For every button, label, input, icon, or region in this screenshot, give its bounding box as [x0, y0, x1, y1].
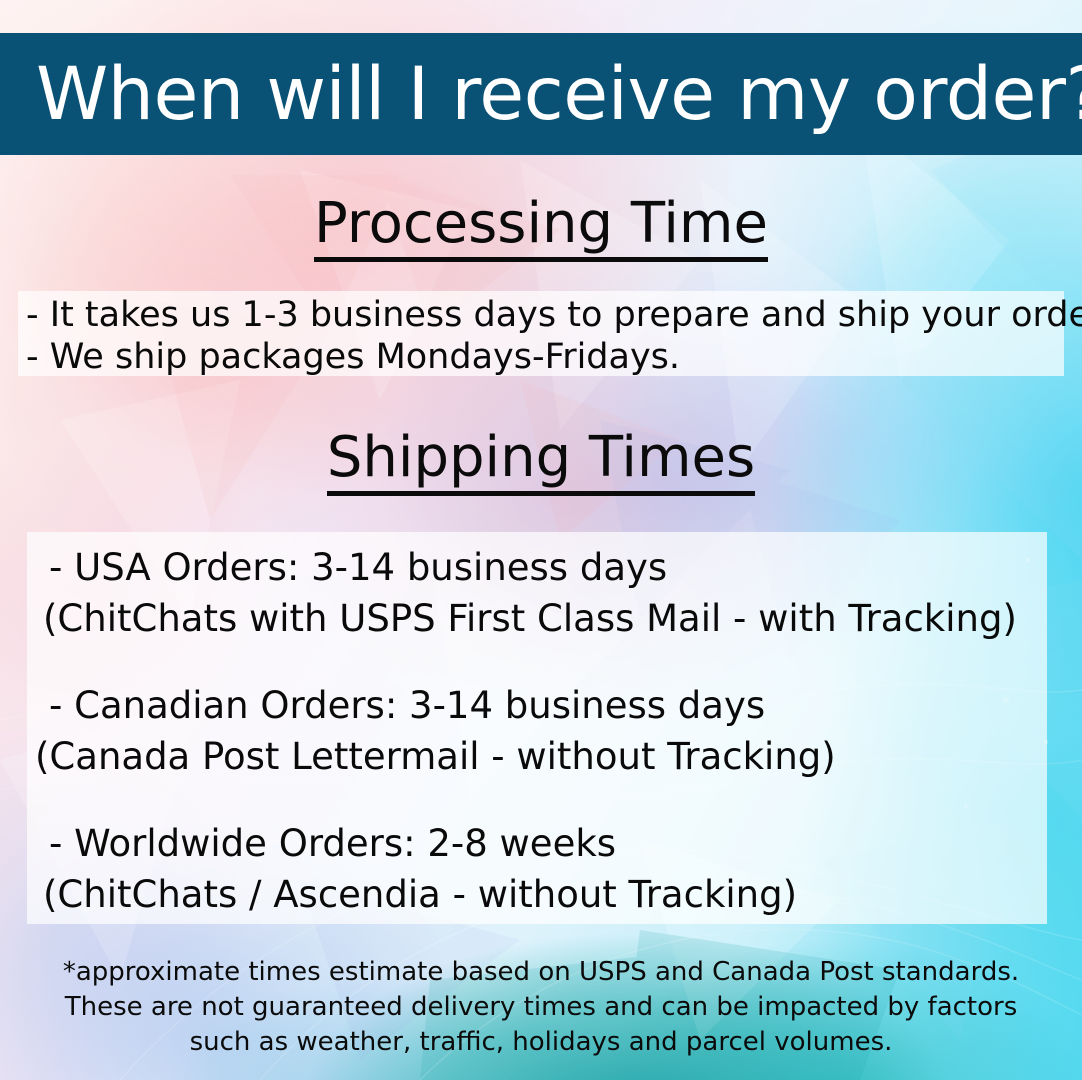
- disclaimer-line-2: These are not guaranteed delivery times …: [0, 990, 1082, 1025]
- page-title: When will I receive my order?: [36, 58, 1082, 131]
- disclaimer-note: *approximate times estimate based on USP…: [0, 955, 1082, 1060]
- section-heading-processing-time-text: Processing Time: [314, 196, 768, 262]
- shipping-times-text-band: - USA Orders: 3-14 business days (ChitCh…: [27, 532, 1047, 924]
- processing-line-1: - It takes us 1-3 business days to prepa…: [26, 294, 1064, 336]
- shipping-canadian-carrier-line: (Canada Post Lettermail - without Tracki…: [35, 731, 1047, 782]
- shipping-worldwide-orders-line: - Worldwide Orders: 2-8 weeks: [35, 818, 1047, 869]
- shipping-gap-2: [35, 782, 1047, 818]
- disclaimer-line-3: such as weather, traffic, holidays and p…: [0, 1025, 1082, 1060]
- shipping-canadian-orders-line: - Canadian Orders: 3-14 business days: [35, 680, 1047, 731]
- processing-line-2: - We ship packages Mondays-Fridays.: [26, 336, 1064, 378]
- processing-time-text-band: - It takes us 1-3 business days to prepa…: [18, 291, 1064, 376]
- shipping-usa-carrier-line: (ChitChats with USPS First Class Mail - …: [35, 593, 1047, 644]
- section-heading-processing-time: Processing Time: [0, 196, 1082, 262]
- shipping-worldwide-carrier-line: (ChitChats / Ascendia - without Tracking…: [35, 869, 1047, 920]
- shipping-policy-poster: When will I receive my order? Processing…: [0, 0, 1082, 1080]
- section-heading-shipping-times-text: Shipping Times: [327, 430, 755, 496]
- section-heading-shipping-times: Shipping Times: [0, 430, 1082, 496]
- disclaimer-line-1: *approximate times estimate based on USP…: [0, 955, 1082, 990]
- shipping-gap-1: [35, 644, 1047, 680]
- header-banner: When will I receive my order?: [0, 33, 1082, 155]
- shipping-usa-orders-line: - USA Orders: 3-14 business days: [35, 542, 1047, 593]
